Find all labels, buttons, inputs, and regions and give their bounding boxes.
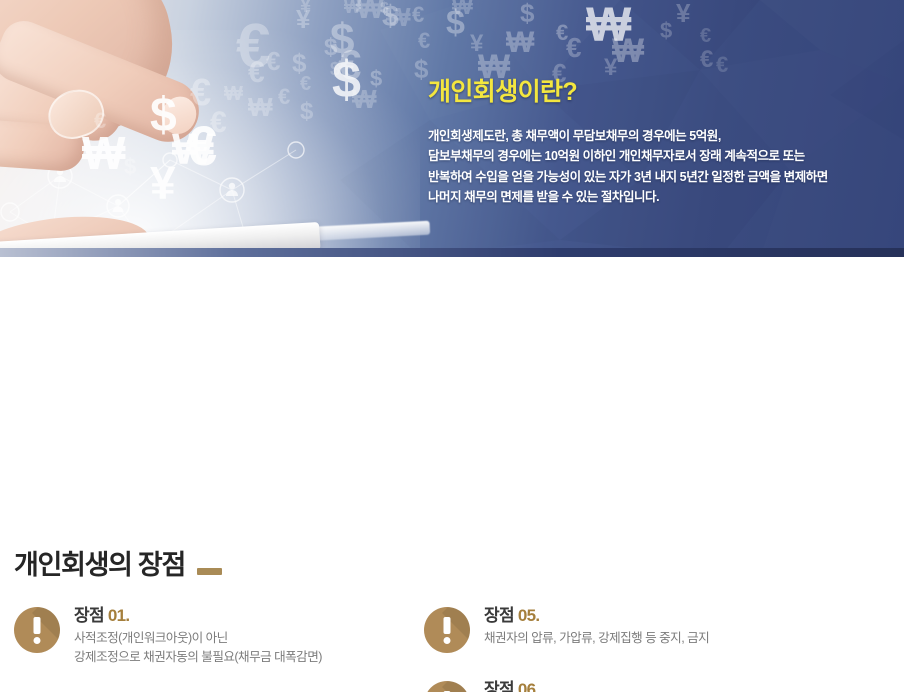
benefit-heading: 장점 06. — [484, 679, 788, 692]
benefit-line: 채권자의 압류, 가압류, 강제집행 등 중지, 금지 — [484, 629, 709, 648]
benefit-item-05: 장점 05. 채권자의 압류, 가압류, 강제집행 등 중지, 금지 — [424, 605, 844, 653]
benefit-description: 채권자의 압류, 가압류, 강제집행 등 중지, 금지 — [484, 629, 709, 648]
benefit-heading: 장점 05. — [484, 605, 709, 626]
benefit-number: 01. — [108, 606, 130, 625]
hero-bottom-bar — [0, 248, 904, 257]
benefit-number: 06. — [518, 680, 540, 692]
section-heading: 개인회생의 장점 — [14, 552, 222, 579]
benefit-number: 05. — [518, 606, 540, 625]
hero-line: 나머지 채무의 면제를 받을 수 있는 절차입니다. — [428, 187, 878, 207]
page-title: 개인회생의 장점 — [14, 552, 185, 579]
benefit-item-06: 장점 06. 담보권에 대한 강제집행 절차의 중지(강제경매는 인가 후 해제… — [424, 679, 844, 692]
benefit-item-01: 장점 01. 사적조정(개인워크아웃)이 아닌 강제조정으로 채권자동의 불필요… — [14, 605, 434, 668]
hero-line: 담보부채무의 경우에는 10억원 이하인 개인채무자로서 장래 계속적으로 또는 — [428, 146, 878, 166]
benefit-line: 사적조정(개인워크아웃)이 아닌 — [74, 629, 322, 648]
benefit-heading: 장점 01. — [74, 605, 322, 626]
title-accent-dash — [197, 568, 222, 575]
hero-copy: 개인회생이란? 개인회생제도란, 총 채무액이 무담보채무의 경우에는 5억원,… — [428, 72, 878, 207]
benefits-column-left: 장점 01. 사적조정(개인워크아웃)이 아닌 강제조정으로 채권자동의 불필요… — [14, 605, 434, 692]
benefit-label: 장점 — [74, 606, 104, 625]
benefit-label: 장점 — [484, 606, 514, 625]
hero-line: 개인회생제도란, 총 채무액이 무담보채무의 경우에는 5억원, — [428, 126, 878, 146]
benefits-section: 개인회생의 장점 장점 01. 사적조정(개인워크아웃)이 아닌 강제조정으로 … — [0, 257, 904, 692]
exclamation-icon — [424, 607, 470, 653]
hero-title: 개인회생이란? — [428, 72, 878, 108]
benefit-description: 사적조정(개인워크아웃)이 아닌 강제조정으로 채권자동의 불필요(채무금 대폭… — [74, 629, 322, 667]
hero-line: 반복하여 수입을 얻을 가능성이 있는 자가 3년 내지 5년간 일정한 금액을… — [428, 167, 878, 187]
benefit-line: 강제조정으로 채권자동의 불필요(채무금 대폭감면) — [74, 648, 322, 667]
hero-banner: € $ $ ¥ € ¥ ₩ $ $ ₩ ₩ ₩ $ ₩ € ¥ $ € € $ … — [0, 0, 904, 257]
exclamation-icon — [424, 681, 470, 692]
benefits-column-right: 장점 05. 채권자의 압류, 가압류, 강제집행 등 중지, 금지 장점 06… — [424, 605, 844, 692]
exclamation-icon — [14, 607, 60, 653]
hero-description: 개인회생제도란, 총 채무액이 무담보채무의 경우에는 5억원, 담보부채무의 … — [428, 126, 878, 207]
benefit-label: 장점 — [484, 680, 514, 692]
